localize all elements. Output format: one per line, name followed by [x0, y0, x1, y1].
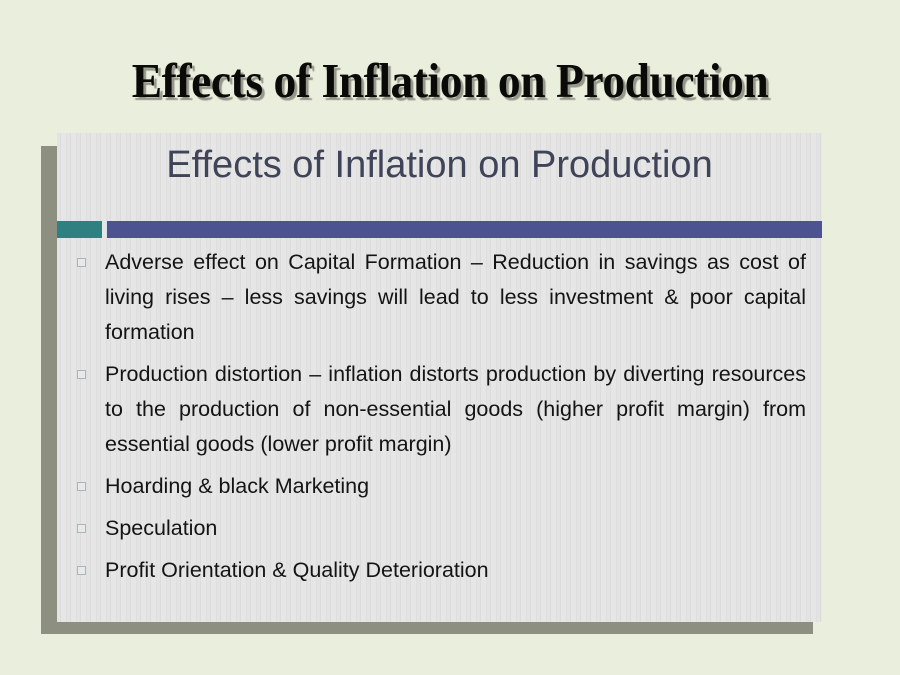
slide-title: Effects of Inflation on Production [97, 137, 782, 193]
list-item-text: Hoarding & black Marketing [105, 469, 806, 504]
list-item-text: Production distortion – inflation distor… [105, 357, 806, 462]
divider-accent-block [57, 221, 102, 238]
slide-divider [57, 221, 822, 238]
page-canvas: Effects of Inflation on Production Effec… [0, 0, 900, 675]
list-item: Speculation [73, 511, 806, 546]
list-item-text: Speculation [105, 511, 806, 546]
hollow-square-bullet-icon [77, 566, 86, 575]
list-item-text: Profit Orientation & Quality Deteriorati… [105, 553, 806, 588]
hollow-square-bullet-icon [77, 524, 86, 533]
bullet-list: Adverse effect on Capital Formation – Re… [73, 245, 806, 595]
hollow-square-bullet-icon [77, 370, 86, 379]
divider-bar [107, 221, 822, 238]
hollow-square-bullet-icon [77, 482, 86, 491]
list-item: Adverse effect on Capital Formation – Re… [73, 245, 806, 350]
list-item: Profit Orientation & Quality Deteriorati… [73, 553, 806, 588]
list-item: Hoarding & black Marketing [73, 469, 806, 504]
page-title: Effects of Inflation on Production [32, 52, 869, 110]
hollow-square-bullet-icon [77, 258, 86, 267]
slide-panel: Effects of Inflation on Production Adver… [57, 133, 822, 622]
list-item: Production distortion – inflation distor… [73, 357, 806, 462]
list-item-text: Adverse effect on Capital Formation – Re… [105, 245, 806, 350]
